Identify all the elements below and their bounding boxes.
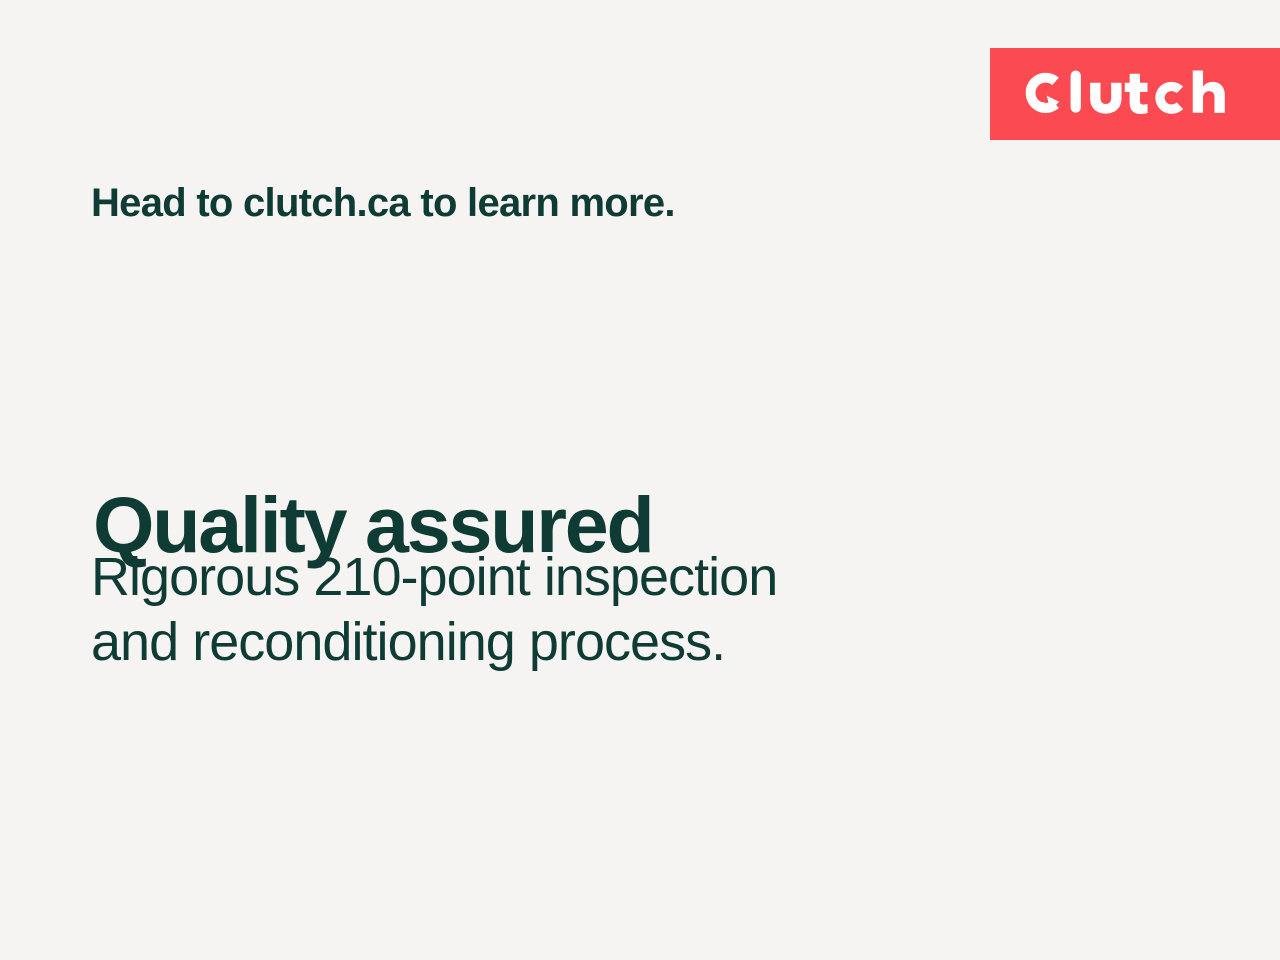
- marketing-slide: Head to clutch.ca to learn more. Quality…: [0, 0, 1280, 960]
- clutch-wordmark-logo: [1018, 48, 1250, 140]
- kicker-text: Head to clutch.ca to learn more.: [91, 181, 675, 226]
- subcopy: Rigorous 210-point inspection and recond…: [91, 545, 777, 675]
- clutch-wordmark-icon: [1018, 65, 1250, 123]
- subcopy-line-1: Rigorous 210-point inspection: [91, 545, 777, 610]
- subcopy-line-2: and reconditioning process.: [91, 610, 777, 675]
- brand-banner: [990, 48, 1280, 140]
